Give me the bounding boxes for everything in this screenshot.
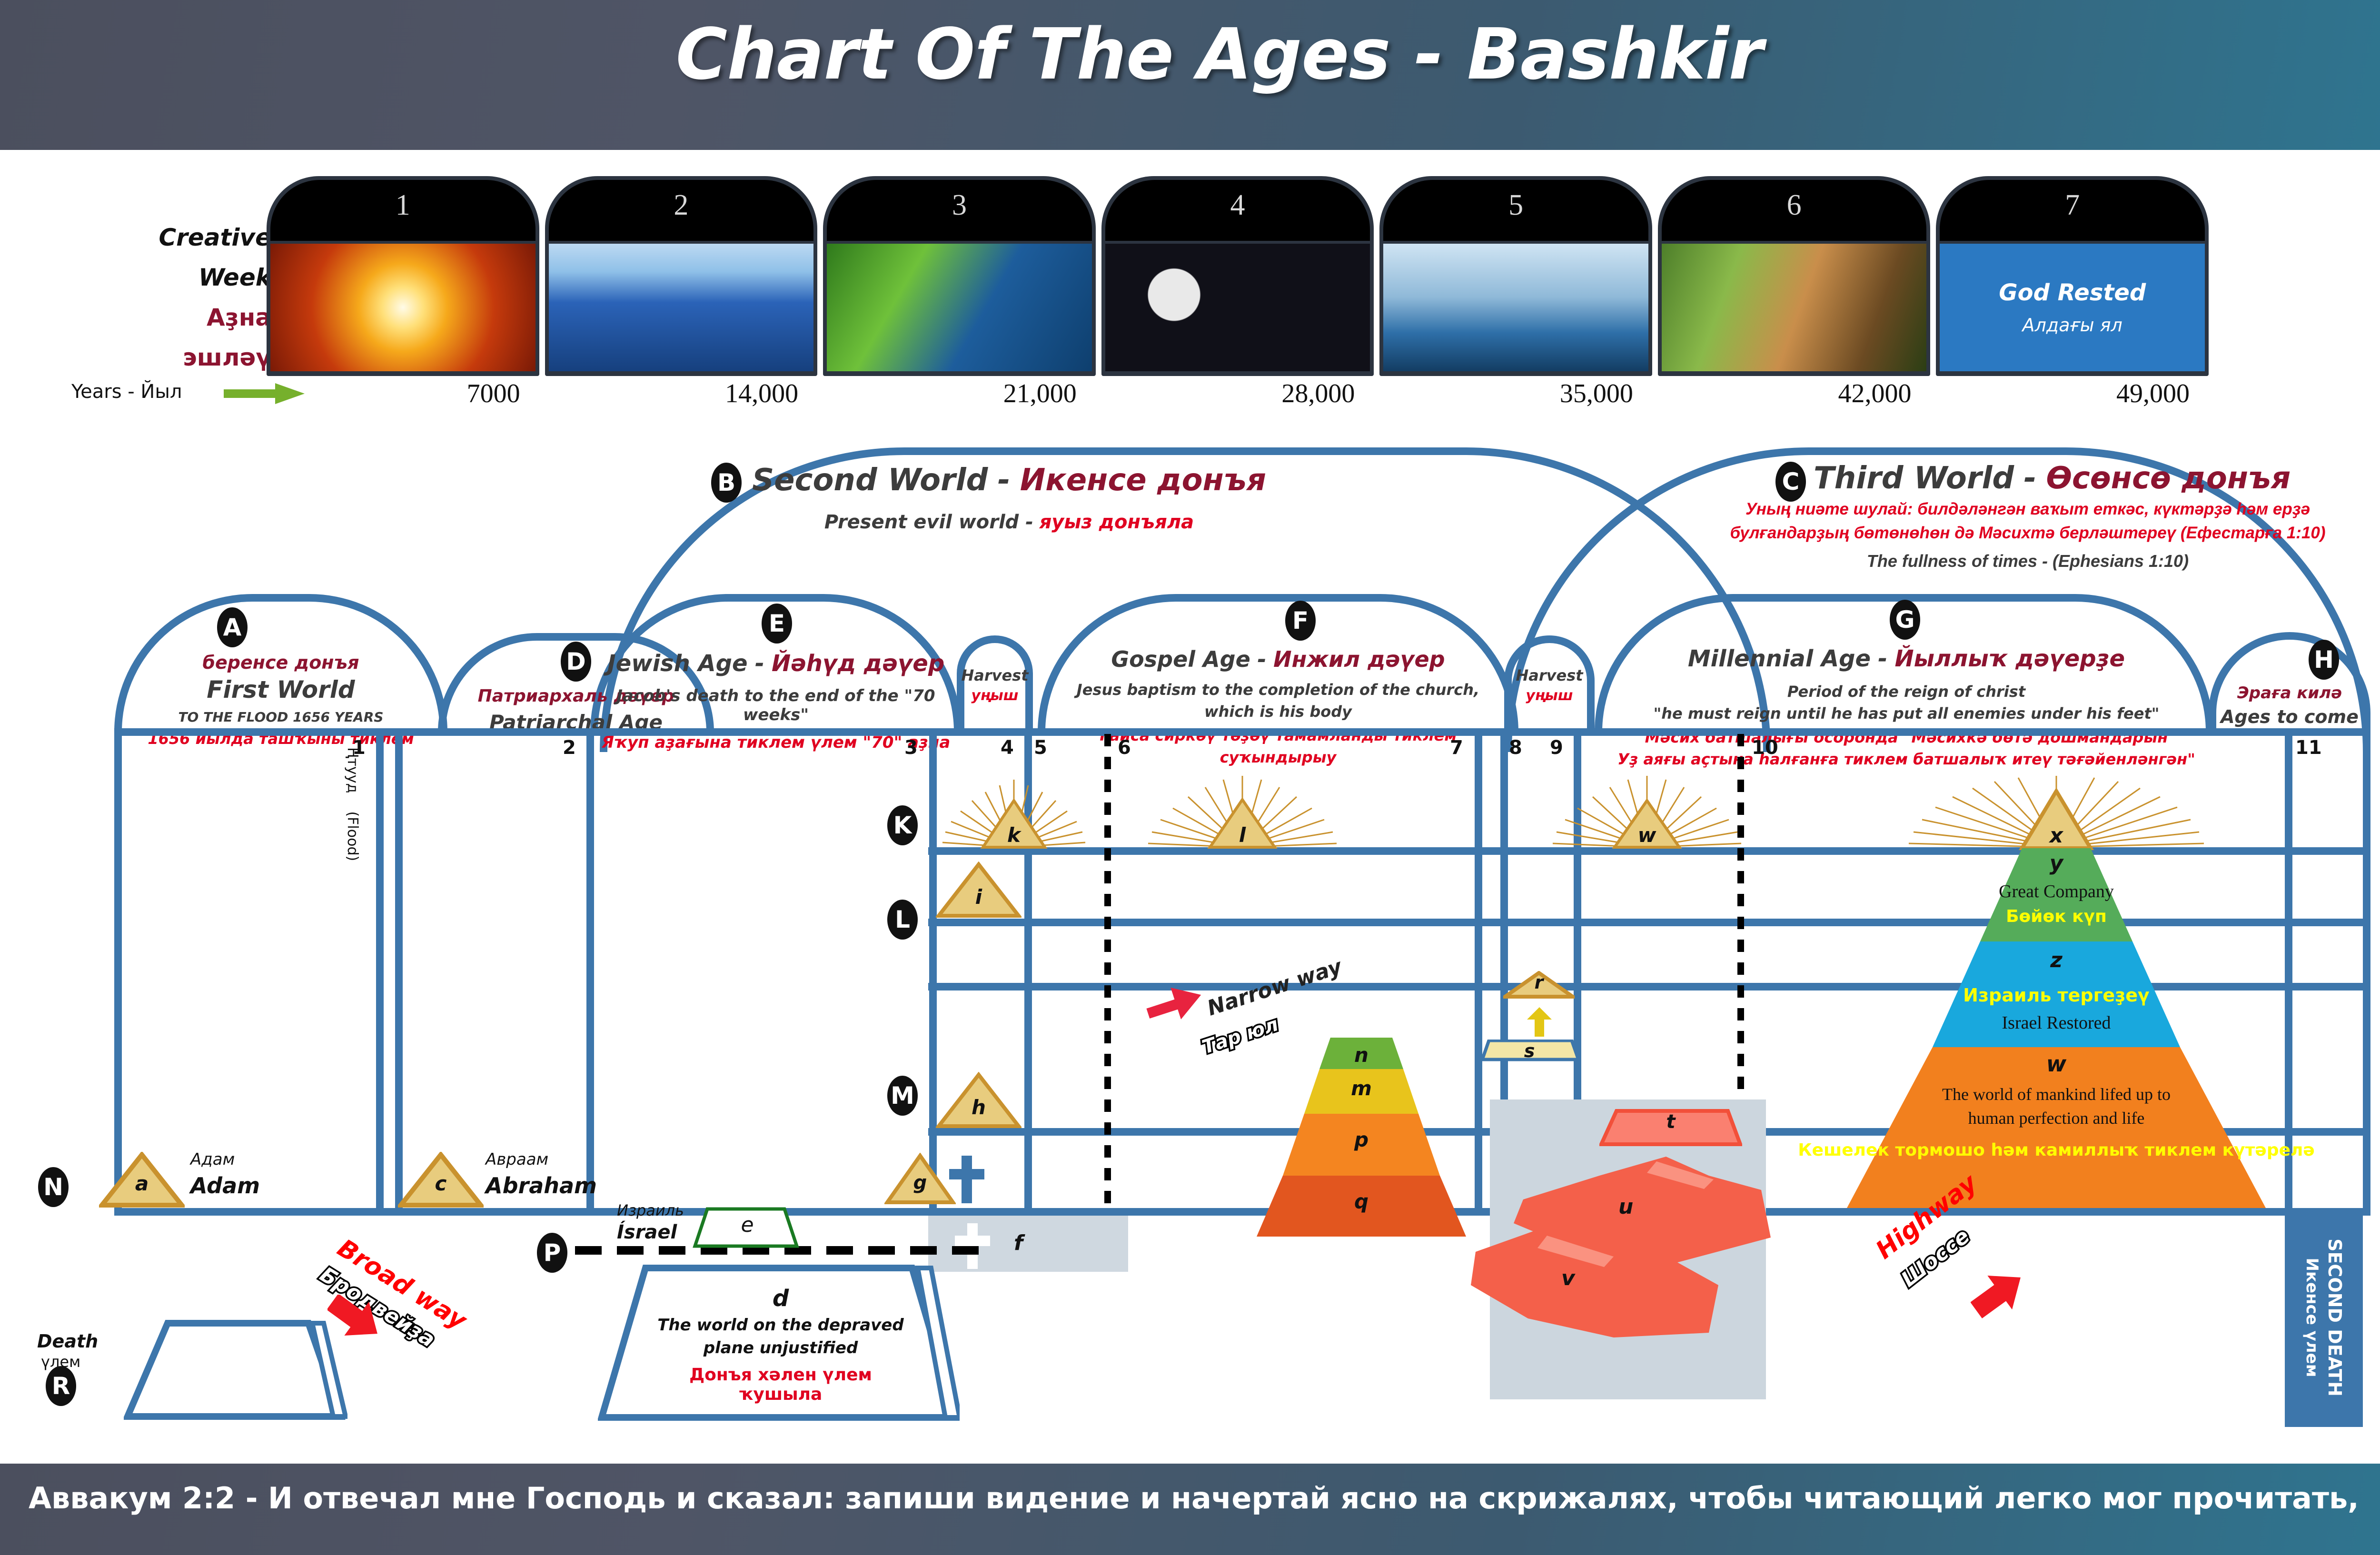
creative-day-4: 4 bbox=[1101, 176, 1374, 376]
gospel-title: Gospel Age - Инжил дәүер Jesus baptism t… bbox=[1042, 646, 1514, 766]
day-image-sun-moon bbox=[1105, 244, 1370, 371]
third-world-title-ru: Өсөнсө донъя bbox=[2046, 461, 2291, 496]
triangle-c-label: c bbox=[412, 1172, 469, 1195]
second-world-sub-en: Present evil world - bbox=[824, 511, 1033, 533]
creative-day-7: 7 God Rested Алдағы ял bbox=[1936, 176, 2209, 376]
badge-ages-to-come: H bbox=[2309, 640, 2339, 680]
third-world-ru-line2: булғандарҙың бөтөнөһөн дә Мәсихтә берләш… bbox=[1671, 524, 2380, 543]
second-death-column: SECOND DEATH Икенсе үлем bbox=[2285, 1208, 2363, 1427]
colnum-4: 4 bbox=[1001, 737, 1014, 759]
day-image-animals-man bbox=[1662, 244, 1927, 371]
badge-row-r: R bbox=[46, 1366, 76, 1406]
harvest-left-ru: уңыш bbox=[947, 687, 1042, 704]
millennial-en: Millennial Age bbox=[1688, 645, 1871, 672]
death-trapezoid-icon bbox=[124, 1319, 347, 1420]
center-pyramid-label-p: p bbox=[1333, 1128, 1390, 1151]
page-footer: Аввакум 2:2 - И отвечал мне Господь и ск… bbox=[0, 1464, 2380, 1555]
day-arch-5: 5 bbox=[1383, 180, 1648, 241]
second-world-sub-ru: яуыз донъяла bbox=[1040, 511, 1194, 533]
badge-gospel: F bbox=[1285, 601, 1316, 641]
creative-day-3: 3 bbox=[823, 176, 1096, 376]
badge-row-n: N bbox=[38, 1167, 69, 1207]
second-death-inner: SECOND DEATH Икенсе үлем bbox=[2302, 1238, 2345, 1397]
day-arch-7: 7 bbox=[1940, 180, 2205, 241]
colnum-2: 2 bbox=[563, 737, 576, 759]
day-arch-3: 3 bbox=[827, 180, 1092, 241]
colnum-8: 8 bbox=[1509, 737, 1522, 759]
day-number-1: 1 bbox=[270, 188, 535, 222]
grid-vline-1 bbox=[376, 728, 384, 1214]
third-world-title-en: Third World bbox=[1814, 461, 2014, 496]
day-number-2: 2 bbox=[549, 188, 814, 222]
millennial-en-sub2: "he must reign until he has put all enem… bbox=[1599, 704, 2213, 723]
creative-week-label-2: Аҙна bbox=[71, 304, 271, 331]
creative-day-2: 2 bbox=[545, 176, 818, 376]
creative-week-label-0: Creative bbox=[71, 224, 271, 251]
creative-week-label-3: эшләү bbox=[71, 344, 271, 371]
triangle-g-label: g bbox=[895, 1172, 945, 1194]
great-company-en: Great Company bbox=[1999, 881, 2114, 902]
narrow-way-arrow-icon bbox=[1146, 981, 1203, 1023]
harvest-right-label: Harvest уңыш bbox=[1499, 666, 1599, 704]
death-en: Death bbox=[37, 1331, 98, 1352]
day-arch-6: 6 bbox=[1662, 180, 1927, 241]
god-rested-ru: Алдағы ял bbox=[2023, 315, 2122, 336]
grid-hline-top bbox=[114, 728, 2370, 736]
gospel-en: Gospel Age bbox=[1111, 646, 1250, 672]
harvest-right-ru: уңыш bbox=[1499, 687, 1599, 704]
colnum-3: 3 bbox=[904, 737, 918, 759]
colnum-10: 10 bbox=[1752, 737, 1778, 759]
second-death-en: SECOND DEATH bbox=[2324, 1238, 2345, 1397]
harvest-left-label: Harvest уңыш bbox=[947, 666, 1042, 704]
millennial-band-y: y Great Company Бөйөк күп bbox=[1894, 851, 2218, 926]
badge-jewish: E bbox=[762, 604, 792, 644]
millennial-dash: - bbox=[1878, 645, 1887, 672]
harvest-right-en: Harvest bbox=[1499, 666, 1599, 684]
depraved-en1: The world on the depraved bbox=[657, 1316, 904, 1335]
triangle-a-label: a bbox=[113, 1172, 170, 1195]
colnum-5: 5 bbox=[1034, 737, 1047, 759]
creative-week-label-1: Week bbox=[71, 264, 271, 291]
harvest-left-en: Harvest bbox=[947, 666, 1042, 684]
trapezoid-d-label: d bbox=[676, 1285, 885, 1312]
flood-en: (Flood) bbox=[344, 811, 361, 861]
day-image-light bbox=[270, 244, 535, 371]
triangle-l-label: l bbox=[1214, 823, 1271, 847]
colnum-11: 11 bbox=[2295, 737, 2322, 759]
gospel-en-sub1: Jesus baptism to the completion of the c… bbox=[1042, 681, 1514, 699]
abraham-en: Abraham bbox=[486, 1173, 597, 1198]
second-death-ru: Икенсе үлем bbox=[2302, 1238, 2321, 1397]
millennial-apex-label: x bbox=[2028, 823, 2085, 848]
day-number-4: 4 bbox=[1105, 188, 1370, 222]
year-value-3: 21,000 bbox=[823, 378, 1096, 412]
triangle-i-label: i bbox=[950, 885, 1007, 909]
chart-of-the-ages-page: Chart Of The Ages - Bashkir Creative Wee… bbox=[0, 0, 2380, 1555]
second-world-dash: - bbox=[998, 463, 1011, 498]
day-image-vegetation bbox=[827, 244, 1092, 371]
day-arch-2: 2 bbox=[549, 180, 814, 241]
shape-v-icon bbox=[1471, 1218, 1728, 1342]
gospel-dash: - bbox=[1257, 646, 1266, 672]
colnum-6: 6 bbox=[1118, 737, 1131, 759]
third-world-ru-line1: Уның ниәте шулай: билдәләнгән ваҡыт еткә… bbox=[1671, 500, 2380, 519]
triangle-k-label: k bbox=[985, 823, 1042, 847]
day-number-6: 6 bbox=[1662, 188, 1927, 222]
colnum-9: 9 bbox=[1550, 737, 1563, 759]
badge-second-world: B bbox=[711, 463, 742, 503]
first-world-en-sub: TO THE FLOOD 1656 YEARS bbox=[124, 709, 438, 725]
trapezoid-s-label: s bbox=[1503, 1040, 1556, 1061]
great-company-ru: Бөйөк күп bbox=[2006, 907, 2107, 926]
badge-row-p: P bbox=[537, 1233, 567, 1273]
triangle-w-label: w bbox=[1618, 823, 1676, 847]
center-pyramid-label-n: n bbox=[1333, 1043, 1390, 1067]
jewish-ru: Йәһүд дәүер bbox=[772, 650, 944, 677]
jewish-en-sub: Jacob's death to the end of the "70 week… bbox=[595, 686, 957, 724]
day-arch-4: 4 bbox=[1105, 180, 1370, 241]
first-world-en: First World bbox=[124, 676, 438, 703]
badge-millennial: G bbox=[1890, 600, 1920, 640]
death-ru: үлем bbox=[41, 1353, 80, 1371]
millennial-band-z-letter: z bbox=[2050, 948, 2063, 972]
first-world-ru: беренсе донъя bbox=[124, 652, 438, 673]
page-title: Chart Of The Ages - Bashkir bbox=[0, 13, 2380, 95]
broad-way-arrow-icon bbox=[327, 1295, 385, 1347]
year-value-7: 49,000 bbox=[1936, 378, 2209, 412]
badge-row-m: M bbox=[887, 1076, 918, 1116]
year-value-1: 7000 bbox=[267, 378, 539, 412]
year-value-4: 28,000 bbox=[1101, 378, 1374, 412]
footer-verse: Аввакум 2:2 - И отвечал мне Господь и ск… bbox=[29, 1481, 2380, 1515]
creative-day-6: 6 bbox=[1658, 176, 1931, 376]
jewish-dash: - bbox=[755, 650, 764, 677]
creative-day-1: 1 bbox=[267, 176, 539, 376]
day-image-god-rested: God Rested Алдағы ял bbox=[1940, 244, 2205, 371]
adam-ru: Адам bbox=[190, 1150, 235, 1169]
grid-vline-right bbox=[2363, 728, 2370, 1214]
shape-u-label: u bbox=[1618, 1195, 1633, 1219]
third-world-title: Third World - Өсөнсө донъя bbox=[1814, 461, 2380, 496]
creative-week-days: 1 2 3 4 5 bbox=[267, 176, 2209, 376]
badge-first-world: A bbox=[217, 607, 248, 647]
israel-ru: Израиль bbox=[617, 1201, 684, 1219]
israel-restored-ru: Израиль тергеҙеү bbox=[1963, 985, 2150, 1006]
cross-f-label: f bbox=[1014, 1231, 1023, 1255]
world-mankind-en2: human perfection and life bbox=[1968, 1108, 2145, 1128]
badge-row-k: K bbox=[887, 805, 918, 845]
yellow-up-arrow-icon bbox=[1526, 1007, 1553, 1037]
day-image-birds-fish bbox=[1383, 244, 1648, 371]
gospel-en-sub2: which is his body bbox=[1042, 703, 1514, 721]
day-number-7: 7 bbox=[1940, 188, 2205, 222]
highway-arrow-icon bbox=[1971, 1271, 2028, 1323]
grid-vline-left bbox=[114, 728, 122, 1214]
millennial-band-z: z Израиль тергеҙеү Israel Restored bbox=[1875, 948, 2237, 1033]
second-world-title-en: Second World bbox=[752, 463, 988, 498]
world-mankind-ru: Кешелек тормошо һәм камиллыҡ тиклем күтә… bbox=[1798, 1140, 2315, 1160]
ages-to-come-en: Ages to come bbox=[2213, 706, 2366, 727]
third-world-en-line: The fullness of times - (Ephesians 1:10) bbox=[1671, 551, 2380, 571]
center-pyramid-label-q: q bbox=[1333, 1190, 1390, 1213]
millennial-en-sub1: Period of the reign of christ bbox=[1599, 683, 2213, 701]
day-number-3: 3 bbox=[827, 188, 1092, 222]
millennial-ru: Йыллыҡ дәүерҙе bbox=[1894, 645, 2125, 672]
day-arch-1: 1 bbox=[270, 180, 535, 241]
shape-t-label: t bbox=[1642, 1111, 1699, 1133]
adam-en: Adam bbox=[190, 1173, 260, 1198]
depraved-ru: Донъя хәлен үлем ҡушыла bbox=[647, 1365, 914, 1404]
badge-patriarchal: D bbox=[561, 642, 591, 682]
depraved-en2: plane unjustified bbox=[657, 1338, 904, 1357]
year-value-2: 14,000 bbox=[545, 378, 818, 412]
abraham-ru: Авраам bbox=[486, 1150, 548, 1169]
millennial-ru-sub2: Уҙ аяғы аçтына һалғанға тиклем батшалыҡ … bbox=[1599, 750, 2213, 768]
year-value-6: 42,000 bbox=[1658, 378, 1931, 412]
day-number-5: 5 bbox=[1383, 188, 1648, 222]
ages-to-come-title: Эраға килә Ages to come bbox=[2213, 683, 2366, 727]
years-axis-label: Years - Йыл bbox=[71, 381, 182, 403]
triangle-h-label: h bbox=[950, 1096, 1007, 1119]
millennial-title: Millennial Age - Йыллыҡ дәүерҙе Period o… bbox=[1599, 645, 2213, 768]
cross-icon-blue bbox=[946, 1156, 987, 1203]
grid-vline-2 bbox=[586, 728, 594, 1214]
colnum-7: 7 bbox=[1450, 737, 1463, 759]
badge-third-world: C bbox=[1775, 462, 1806, 502]
jewish-ru-sub: Яҡуп аҙағына тиклем үлем "70" аҙна bbox=[595, 733, 957, 752]
god-rested-en: God Rested bbox=[1999, 279, 2146, 306]
year-value-5: 35,000 bbox=[1379, 378, 1652, 412]
jewish-en: Jewish Age bbox=[607, 650, 748, 677]
second-world-title: Second World - Икенсе донъя Present evil… bbox=[747, 463, 1271, 533]
grid-vline-1b bbox=[395, 728, 403, 1214]
jewish-title: Jewish Age - Йәһүд дәүер Jacob's death t… bbox=[595, 650, 957, 752]
page-header: Chart Of The Ages - Bashkir bbox=[0, 0, 2380, 150]
gospel-ru: Инжил дәүер bbox=[1273, 646, 1445, 672]
day-image-sky-water bbox=[549, 244, 814, 371]
triangle-r-label: r bbox=[1514, 972, 1564, 993]
millennial-band-w-letter: w bbox=[2046, 1051, 2067, 1077]
center-pyramid-label-m: m bbox=[1333, 1077, 1390, 1100]
colnum-1: 1 bbox=[352, 737, 366, 759]
second-world-title-ru: Икенсе донъя bbox=[1020, 463, 1266, 498]
dashed-divider-6 bbox=[1104, 734, 1111, 1210]
creative-week-label-block: Creative Week Аҙна эшләү bbox=[71, 224, 271, 384]
millennial-band-y-letter: y bbox=[2050, 851, 2063, 875]
creative-day-5: 5 bbox=[1379, 176, 1652, 376]
third-world-dash: - bbox=[2024, 461, 2037, 496]
shape-v-label: v bbox=[1561, 1266, 1575, 1290]
badge-row-l: L bbox=[887, 900, 918, 940]
israel-restored-en: Israel Restored bbox=[2002, 1012, 2111, 1033]
creative-week-years: 7000 14,000 21,000 28,000 35,000 42,000 … bbox=[267, 378, 2209, 412]
ages-to-come-ru: Эраға килә bbox=[2213, 683, 2366, 703]
world-mankind-en1: The world of mankind lifed up to bbox=[1942, 1084, 2171, 1104]
gospel-ru-sub2: суҡындырыу bbox=[1042, 748, 1514, 766]
millennial-band-w: w The world of mankind lifed up to human… bbox=[1790, 1051, 2323, 1160]
grid-vline-3 bbox=[929, 728, 937, 1214]
israel-en: Ísrael bbox=[617, 1221, 677, 1243]
ages-diagram: B Second World - Икенсе донъя Present ev… bbox=[0, 443, 2380, 1452]
trapezoid-e-label: e bbox=[719, 1213, 776, 1237]
